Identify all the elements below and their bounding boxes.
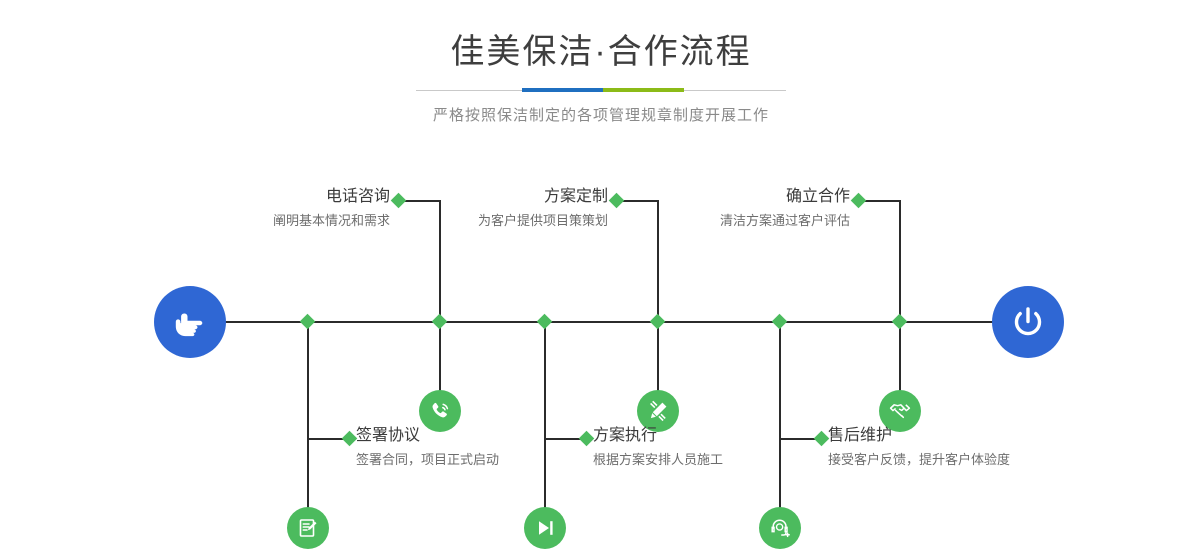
play-execute-icon — [533, 516, 557, 540]
header: 佳美保洁·合作流程 严格按照保洁制定的各项管理规章制度开展工作 — [0, 30, 1202, 125]
timeline-end-node[interactable] — [992, 286, 1064, 358]
page-title: 佳美保洁·合作流程 — [0, 30, 1202, 74]
step-5-stem — [899, 321, 901, 391]
step-5-subtitle: 清洁方案通过客户评估 — [600, 211, 850, 231]
step-6-title: 售后维护 — [828, 425, 1188, 447]
step-4-stem — [544, 321, 546, 508]
step-1-label: 电话咨询 阐明基本情况和需求 — [140, 186, 390, 231]
step-3-stem — [657, 321, 659, 391]
step-6-subtitle: 接受客户反馈，提升客户体验度 — [828, 450, 1188, 470]
page-subtitle: 严格按照保洁制定的各项管理规章制度开展工作 — [0, 104, 1202, 125]
step-5-axis-marker — [892, 314, 908, 330]
step-3-label: 方案定制 为客户提供项目策策划 — [358, 186, 608, 231]
divider-segment-green — [603, 88, 684, 92]
power-icon — [1007, 301, 1049, 343]
divider-segment-blue — [522, 88, 603, 92]
phone-call-icon — [428, 399, 452, 423]
step-3-axis-marker — [650, 314, 666, 330]
step-1-subtitle: 阐明基本情况和需求 — [140, 211, 390, 231]
step-2-label-marker — [342, 431, 358, 447]
step-4-bullet[interactable] — [524, 507, 566, 549]
step-4-axis-marker — [537, 314, 553, 330]
headset-support-icon — [768, 516, 792, 540]
pencil-ruler-icon — [646, 399, 670, 423]
infographic-root: 佳美保洁·合作流程 严格按照保洁制定的各项管理规章制度开展工作 — [0, 0, 1202, 502]
step-2-axis-marker — [300, 314, 316, 330]
step-5-label-marker — [851, 193, 867, 209]
step-1-stem — [439, 321, 441, 391]
step-6-axis-marker — [772, 314, 788, 330]
step-6-label: 售后维护 接受客户反馈，提升客户体验度 — [828, 425, 1188, 470]
step-6-bullet[interactable] — [759, 507, 801, 549]
step-1-axis-marker — [432, 314, 448, 330]
title-divider — [416, 88, 786, 92]
step-5-title: 确立合作 — [600, 186, 850, 208]
step-2-stem — [307, 321, 309, 508]
step-3-subtitle: 为客户提供项目策策划 — [358, 211, 608, 231]
step-6-stem — [779, 321, 781, 508]
step-2-bullet[interactable] — [287, 507, 329, 549]
document-sign-icon — [296, 516, 320, 540]
pointing-hand-icon — [170, 302, 210, 342]
step-5-label: 确立合作 清洁方案通过客户评估 — [600, 186, 850, 231]
handshake-icon — [888, 399, 912, 423]
timeline-stage: 电话咨询 阐明基本情况和需求 — [0, 150, 1202, 502]
timeline-start-node[interactable] — [154, 286, 226, 358]
step-3-title: 方案定制 — [358, 186, 608, 208]
step-1-title: 电话咨询 — [140, 186, 390, 208]
step-5-riser — [899, 200, 901, 321]
